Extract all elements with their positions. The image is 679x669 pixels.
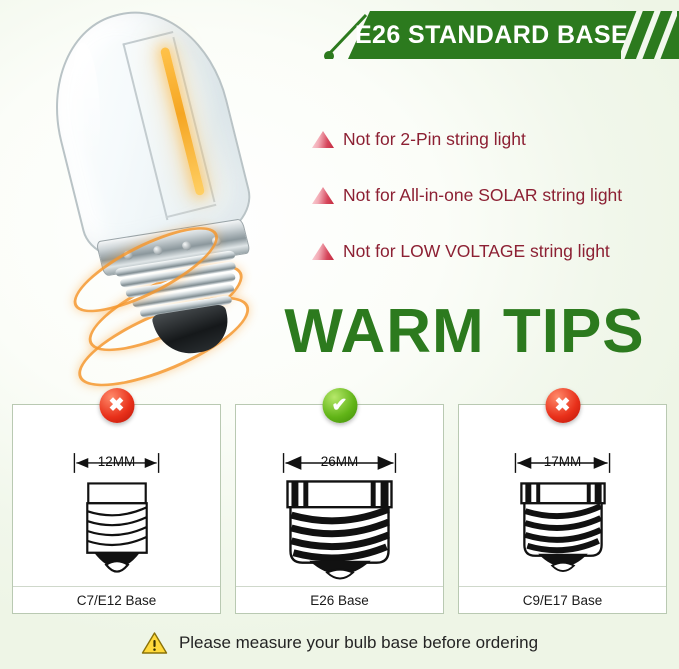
warning-list: Not for 2-Pin string light Not for All-i…: [312, 124, 679, 292]
banner-stripes: [621, 11, 677, 59]
cross-badge-icon: ✖: [545, 388, 580, 423]
warning-text: Not for 2-Pin string light: [343, 129, 526, 150]
base-diagram-e17: [459, 477, 666, 581]
warning-item: Not for 2-Pin string light: [312, 124, 679, 155]
warning-triangle-icon: [312, 131, 334, 148]
warning-text: Not for LOW VOLTAGE string light: [343, 241, 610, 262]
cross-badge-icon: ✖: [99, 388, 134, 423]
infographic-canvas: E26 STANDARD BASE Not for 2-Pin string l…: [0, 0, 679, 669]
comparison-box-e26: ✔ 26MM: [235, 404, 444, 614]
banner: E26 STANDARD BASE: [318, 11, 679, 59]
warning-item: Not for All-in-one SOLAR string light: [312, 180, 679, 211]
footer-note: Please measure your bulb base before ord…: [0, 626, 679, 660]
caution-triangle-icon: [141, 631, 168, 655]
base-caption-e12: C7/E12 Base: [13, 586, 220, 613]
comparison-box-e17: ✖ 17MM: [458, 404, 667, 614]
base-diagram-e12: [13, 477, 220, 581]
dimension-label-e26: 26MM: [236, 449, 443, 475]
warning-text: Not for All-in-one SOLAR string light: [343, 185, 622, 206]
warning-item: Not for LOW VOLTAGE string light: [312, 236, 679, 267]
comparison-box-e12: ✖ 12MM C7/E12 Base: [12, 404, 221, 614]
base-caption-e26: E26 Base: [236, 586, 443, 613]
dimension-label-e17: 17MM: [459, 449, 666, 475]
check-badge-icon: ✔: [322, 388, 357, 423]
page-title: WARM TIPS: [0, 296, 679, 367]
base-comparison-row: ✖ 12MM C7/E12 Base ✔: [12, 404, 667, 614]
warning-triangle-icon: [312, 243, 334, 260]
dimension-label-e12: 12MM: [13, 449, 220, 475]
footer-text: Please measure your bulb base before ord…: [179, 633, 538, 653]
base-diagram-e26: [236, 477, 443, 581]
base-caption-e17: C9/E17 Base: [459, 586, 666, 613]
warning-triangle-icon: [312, 187, 334, 204]
